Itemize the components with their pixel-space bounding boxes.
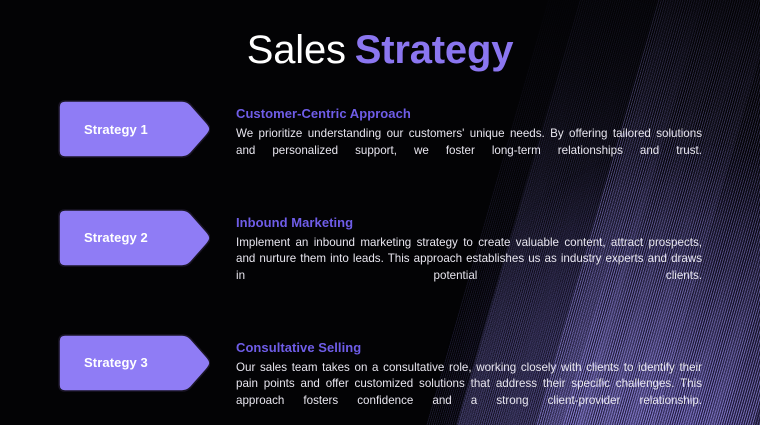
strategy-text: Inbound Marketing Implement an inbound m…	[236, 209, 702, 301]
strategy-row: Strategy 1 Customer-Centric Approach We …	[0, 100, 760, 176]
slide-title: SalesStrategy	[0, 28, 760, 73]
strategy-heading: Consultative Selling	[236, 340, 702, 355]
slide-canvas: SalesStrategy Strategy 1 Customer-Centri…	[0, 0, 760, 425]
badge-label: Strategy 2	[84, 209, 148, 267]
strategy-badge[interactable]: Strategy 2	[58, 209, 210, 267]
badge-label: Strategy 1	[84, 100, 148, 158]
badge-label: Strategy 3	[84, 334, 148, 392]
strategy-text: Consultative Selling Our sales team take…	[236, 334, 702, 425]
strategy-body: Our sales team takes on a consultative r…	[236, 360, 702, 425]
strategy-body: We prioritize understanding our customer…	[236, 126, 702, 176]
strategy-row: Strategy 2 Inbound Marketing Implement a…	[0, 209, 760, 301]
strategy-badge[interactable]: Strategy 3	[58, 334, 210, 392]
strategy-badge[interactable]: Strategy 1	[58, 100, 210, 158]
title-word-accent: Strategy	[355, 28, 513, 72]
strategy-text: Customer-Centric Approach We prioritize …	[236, 100, 702, 176]
strategy-heading: Inbound Marketing	[236, 215, 702, 230]
title-word-plain: Sales	[247, 28, 346, 72]
strategy-list: Strategy 1 Customer-Centric Approach We …	[0, 100, 760, 425]
strategy-heading: Customer-Centric Approach	[236, 106, 702, 121]
strategy-row: Strategy 3 Consultative Selling Our sale…	[0, 334, 760, 425]
strategy-body: Implement an inbound marketing strategy …	[236, 235, 702, 301]
